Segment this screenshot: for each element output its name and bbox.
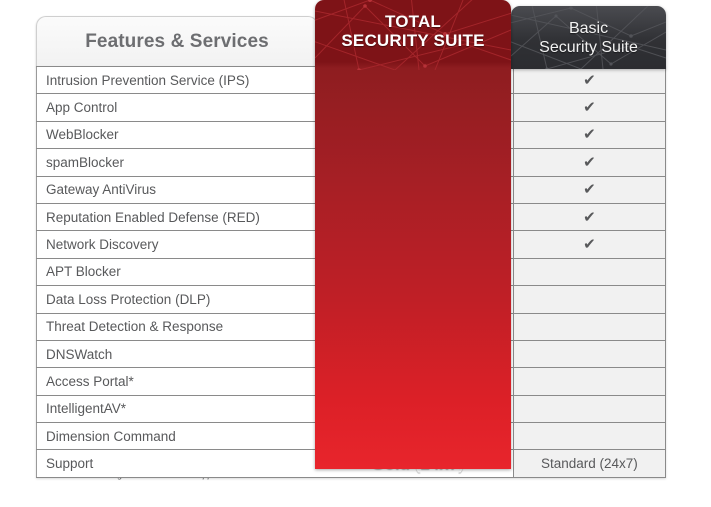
feature-label-cell: Network Discovery — [37, 231, 323, 258]
feature-label-cell: WebBlocker — [37, 121, 323, 148]
basic-suite-cell: ✔ — [513, 203, 665, 230]
basic-suite-cell: ✔ — [513, 94, 665, 121]
check-icon: ✔ — [583, 73, 596, 88]
check-icon: ✔ — [583, 182, 596, 197]
feature-label-cell: Threat Detection & Response — [37, 313, 323, 340]
basic-suite-cell — [513, 286, 665, 313]
comparison-table-page: Features & Services Basic Security Suite — [0, 0, 711, 507]
feature-label-cell: DNSWatch — [37, 340, 323, 367]
basic-suite-cell: ✔ — [513, 149, 665, 176]
basic-suite-cell — [513, 258, 665, 285]
basic-suite-cell — [513, 368, 665, 395]
basic-suite-cell — [513, 423, 665, 450]
feature-label-cell: Access Portal* — [37, 368, 323, 395]
basic-suite-cell — [513, 313, 665, 340]
feature-label-cell: Intrusion Prevention Service (IPS) — [37, 67, 323, 94]
support-basic-cell: Standard (24x7) — [513, 450, 665, 477]
feature-label-cell: spamBlocker — [37, 149, 323, 176]
basic-suite-cell: ✔ — [513, 176, 665, 203]
basic-suite-cell: ✔ — [513, 231, 665, 258]
check-icon: ✔ — [583, 100, 596, 115]
basic-suite-column-header: Basic Security Suite — [511, 6, 666, 69]
feature-label-cell: App Control — [37, 94, 323, 121]
feature-label-cell: Dimension Command — [37, 423, 323, 450]
features-column-header-label: Features & Services — [85, 31, 269, 53]
support-label-cell: Support — [37, 450, 323, 477]
total-suite-title: TOTAL SECURITY SUITE — [315, 0, 511, 62]
total-suite-title-line1: TOTAL — [341, 12, 484, 31]
feature-label-cell: Reputation Enabled Defense (RED) — [37, 203, 323, 230]
basic-suite-title-line2: Security Suite — [539, 38, 638, 57]
check-icon: ✔ — [583, 210, 596, 225]
basic-suite-cell: ✔ — [513, 67, 665, 94]
feature-label-cell: Gateway AntiVirus — [37, 176, 323, 203]
basic-suite-cell — [513, 395, 665, 422]
basic-suite-title: Basic Security Suite — [511, 6, 666, 69]
feature-label-cell: Data Loss Protection (DLP) — [37, 286, 323, 313]
feature-label-cell: IntelligentAV* — [37, 395, 323, 422]
check-icon: ✔ — [583, 127, 596, 142]
check-icon: ✔ — [583, 237, 596, 252]
basic-suite-title-line1: Basic — [539, 19, 638, 38]
total-suite-title-line2: SECURITY SUITE — [341, 31, 484, 50]
features-column-header: Features & Services — [36, 16, 318, 67]
basic-suite-cell: ✔ — [513, 121, 665, 148]
basic-suite-cell — [513, 340, 665, 367]
feature-label-cell: APT Blocker — [37, 258, 323, 285]
total-suite-column: TOTAL SECURITY SUITE — [315, 0, 511, 469]
check-icon: ✔ — [583, 155, 596, 170]
